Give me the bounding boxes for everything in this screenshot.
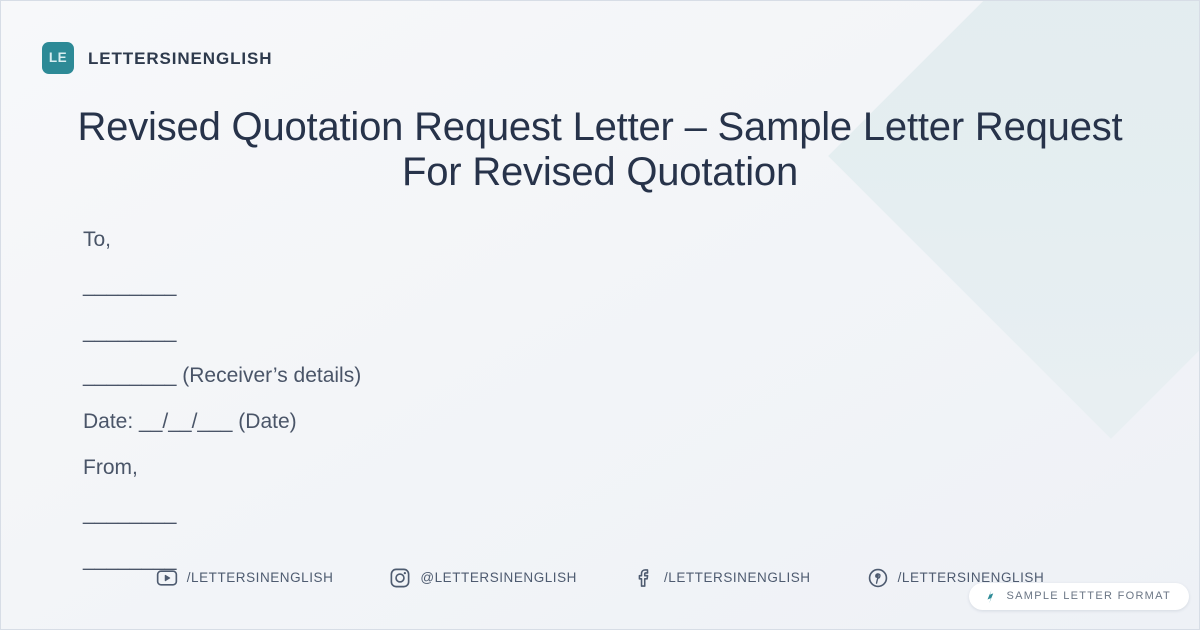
- social-link-youtube[interactable]: /LETTERSINENGLISH: [156, 567, 334, 589]
- pinterest-icon: [867, 567, 889, 589]
- brand-logo[interactable]: LE LETTERSINENGLISH: [42, 42, 272, 74]
- social-link-facebook[interactable]: /LETTERSINENGLISH: [633, 567, 811, 589]
- letter-line-receiver-details: ________ (Receiver’s details): [83, 365, 723, 386]
- letter-body: To, ________ ________ ________ (Receiver…: [83, 229, 723, 570]
- letter-line-blank-1: ________: [83, 275, 723, 296]
- letter-card: LE LETTERSINENGLISH Revised Quotation Re…: [0, 0, 1200, 630]
- letter-line-from: From,: [83, 457, 723, 478]
- instagram-icon: [389, 567, 411, 589]
- social-handle-facebook: /LETTERSINENGLISH: [664, 571, 811, 585]
- social-link-instagram[interactable]: @LETTERSINENGLISH: [389, 567, 577, 589]
- social-handle-youtube: /LETTERSINENGLISH: [187, 571, 334, 585]
- le-monogram-icon: LE: [42, 42, 74, 74]
- letter-line-date: Date: __/__/___ (Date): [83, 411, 723, 432]
- sample-letter-format-badge[interactable]: SAMPLE LETTER FORMAT: [969, 583, 1189, 610]
- badge-label: SAMPLE LETTER FORMAT: [1006, 591, 1171, 602]
- letter-line-blank-3: ________: [83, 503, 723, 524]
- page-title: Revised Quotation Request Letter – Sampl…: [61, 105, 1139, 195]
- brand-name: LETTERSINENGLISH: [88, 50, 272, 67]
- letter-line-blank-2: ________: [83, 321, 723, 342]
- facebook-icon: [633, 567, 655, 589]
- decorative-diamond-shape: [828, 0, 1200, 439]
- lightning-bolt-icon: [983, 589, 998, 604]
- youtube-icon: [156, 567, 178, 589]
- letter-line-to: To,: [83, 229, 723, 250]
- social-handle-instagram: @LETTERSINENGLISH: [420, 571, 577, 585]
